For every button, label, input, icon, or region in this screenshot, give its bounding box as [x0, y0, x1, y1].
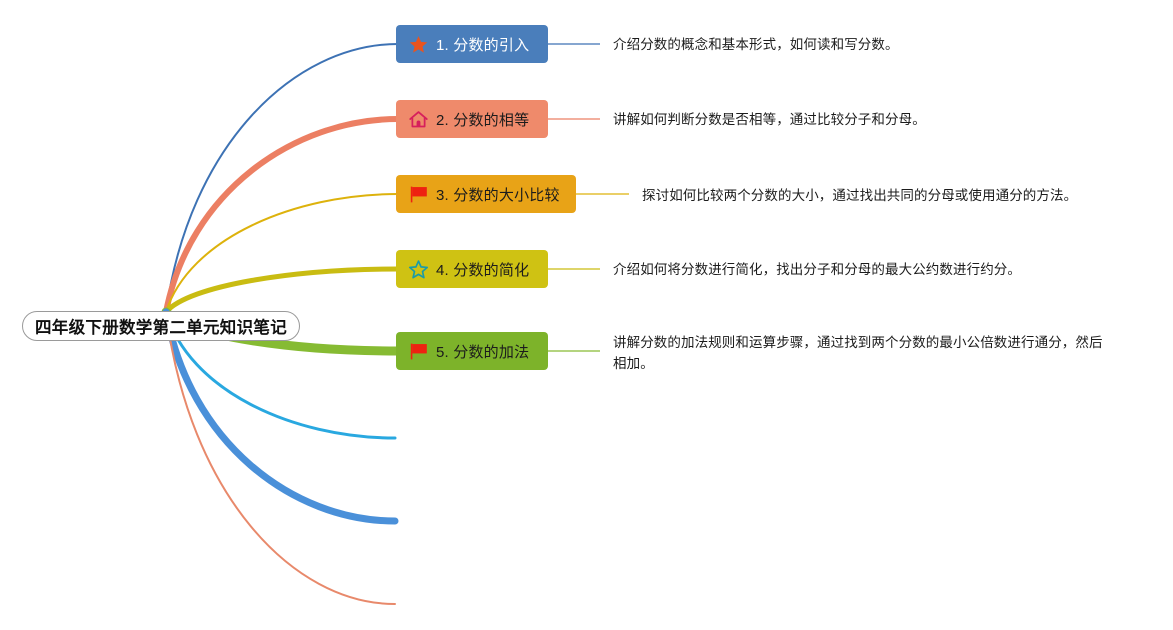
topic-node-label: 3. 分数的大小比较 — [436, 184, 560, 205]
branch-curve-2 — [166, 119, 398, 312]
flag-filled-icon — [408, 341, 429, 362]
flag-filled-icon — [408, 184, 429, 205]
topic-node-5[interactable]: 5. 分数的加法 — [396, 332, 548, 370]
root-node-label: 四年级下册数学第二单元知识笔记 — [35, 314, 287, 338]
topic-description-4: 介绍如何将分数进行简化，找出分子和分母的最大公约数进行约分。 — [613, 259, 1083, 280]
topic-description-1: 介绍分数的概念和基本形式，如何读和写分数。 — [613, 34, 1093, 55]
topic-node-label: 1. 分数的引入 — [436, 34, 529, 55]
topic-description-5: 讲解分数的加法规则和运算步骤，通过找到两个分数的最小公倍数进行通分，然后相加。 — [613, 332, 1113, 374]
topic-node-3[interactable]: 3. 分数的大小比较 — [396, 175, 576, 213]
topic-node-1[interactable]: 1. 分数的引入 — [396, 25, 548, 63]
topic-node-label: 4. 分数的简化 — [436, 259, 529, 280]
home-outline-icon — [408, 109, 429, 130]
mindmap-canvas: 四年级下册数学第二单元知识笔记 1. 分数的引入2. 分数的相等3. 分数的大小… — [0, 0, 1173, 630]
empty-branch-curve-3 — [166, 312, 395, 604]
topic-node-label: 5. 分数的加法 — [436, 341, 529, 362]
topic-description-2: 讲解如何判断分数是否相等，通过比较分子和分母。 — [613, 109, 1093, 130]
star-outline-icon — [408, 259, 429, 280]
topic-node-2[interactable]: 2. 分数的相等 — [396, 100, 548, 138]
topic-node-label: 2. 分数的相等 — [436, 109, 529, 130]
topic-description-3: 探讨如何比较两个分数的大小，通过找出共同的分母或使用通分的方法。 — [642, 185, 1112, 206]
branch-curve-4 — [166, 269, 398, 312]
topic-node-4[interactable]: 4. 分数的简化 — [396, 250, 548, 288]
root-node[interactable]: 四年级下册数学第二单元知识笔记 — [22, 311, 300, 341]
star-filled-icon — [408, 34, 429, 55]
